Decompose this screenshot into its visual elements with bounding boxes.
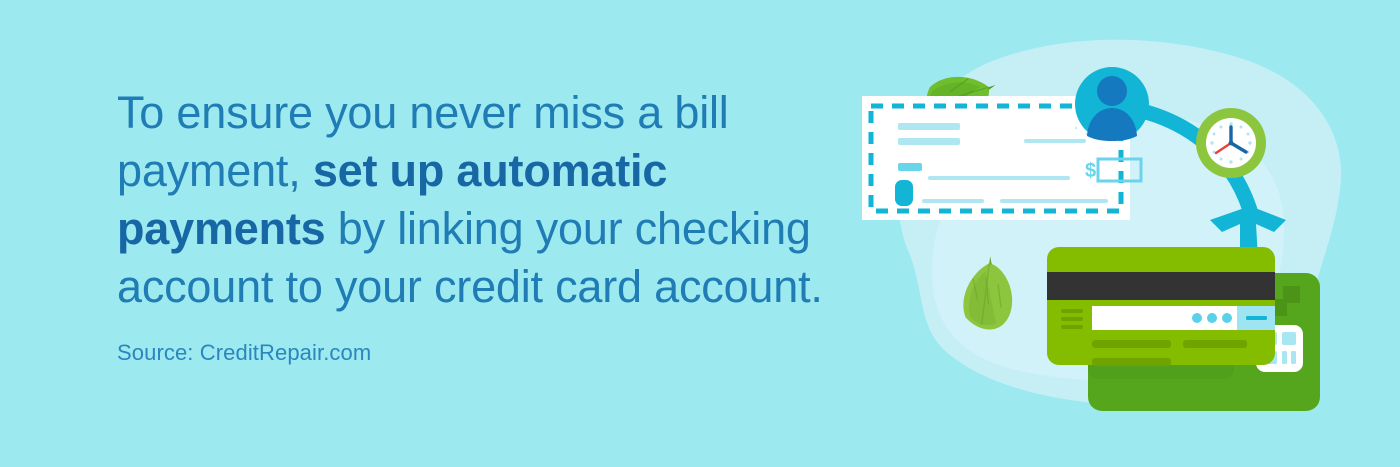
card-left-lines (1061, 309, 1083, 329)
check-line (898, 163, 922, 171)
check-line (898, 123, 960, 130)
check-line (1000, 199, 1108, 203)
credit-card-front (1047, 247, 1275, 366)
cvv-dots (1192, 313, 1232, 323)
check-line (898, 138, 960, 145)
card-magstripe (1047, 272, 1275, 300)
source-label: Source: CreditRepair.com (117, 316, 847, 366)
cvv-box-line (1246, 316, 1267, 320)
person-avatar-icon (1075, 67, 1149, 141)
text-column: To ensure you never miss a bill payment,… (117, 84, 847, 366)
headline: To ensure you never miss a bill payment,… (117, 84, 847, 316)
check-line (922, 199, 984, 203)
check-payto-line (928, 176, 1070, 180)
person-head (1097, 76, 1127, 106)
clock-icon (1196, 108, 1266, 178)
illustration: $ (840, 0, 1400, 467)
check-stamp (895, 180, 913, 206)
banner: To ensure you never miss a bill payment,… (0, 0, 1400, 467)
check-date-line (1024, 139, 1086, 143)
check-dollar-sign: $ (1085, 160, 1096, 182)
